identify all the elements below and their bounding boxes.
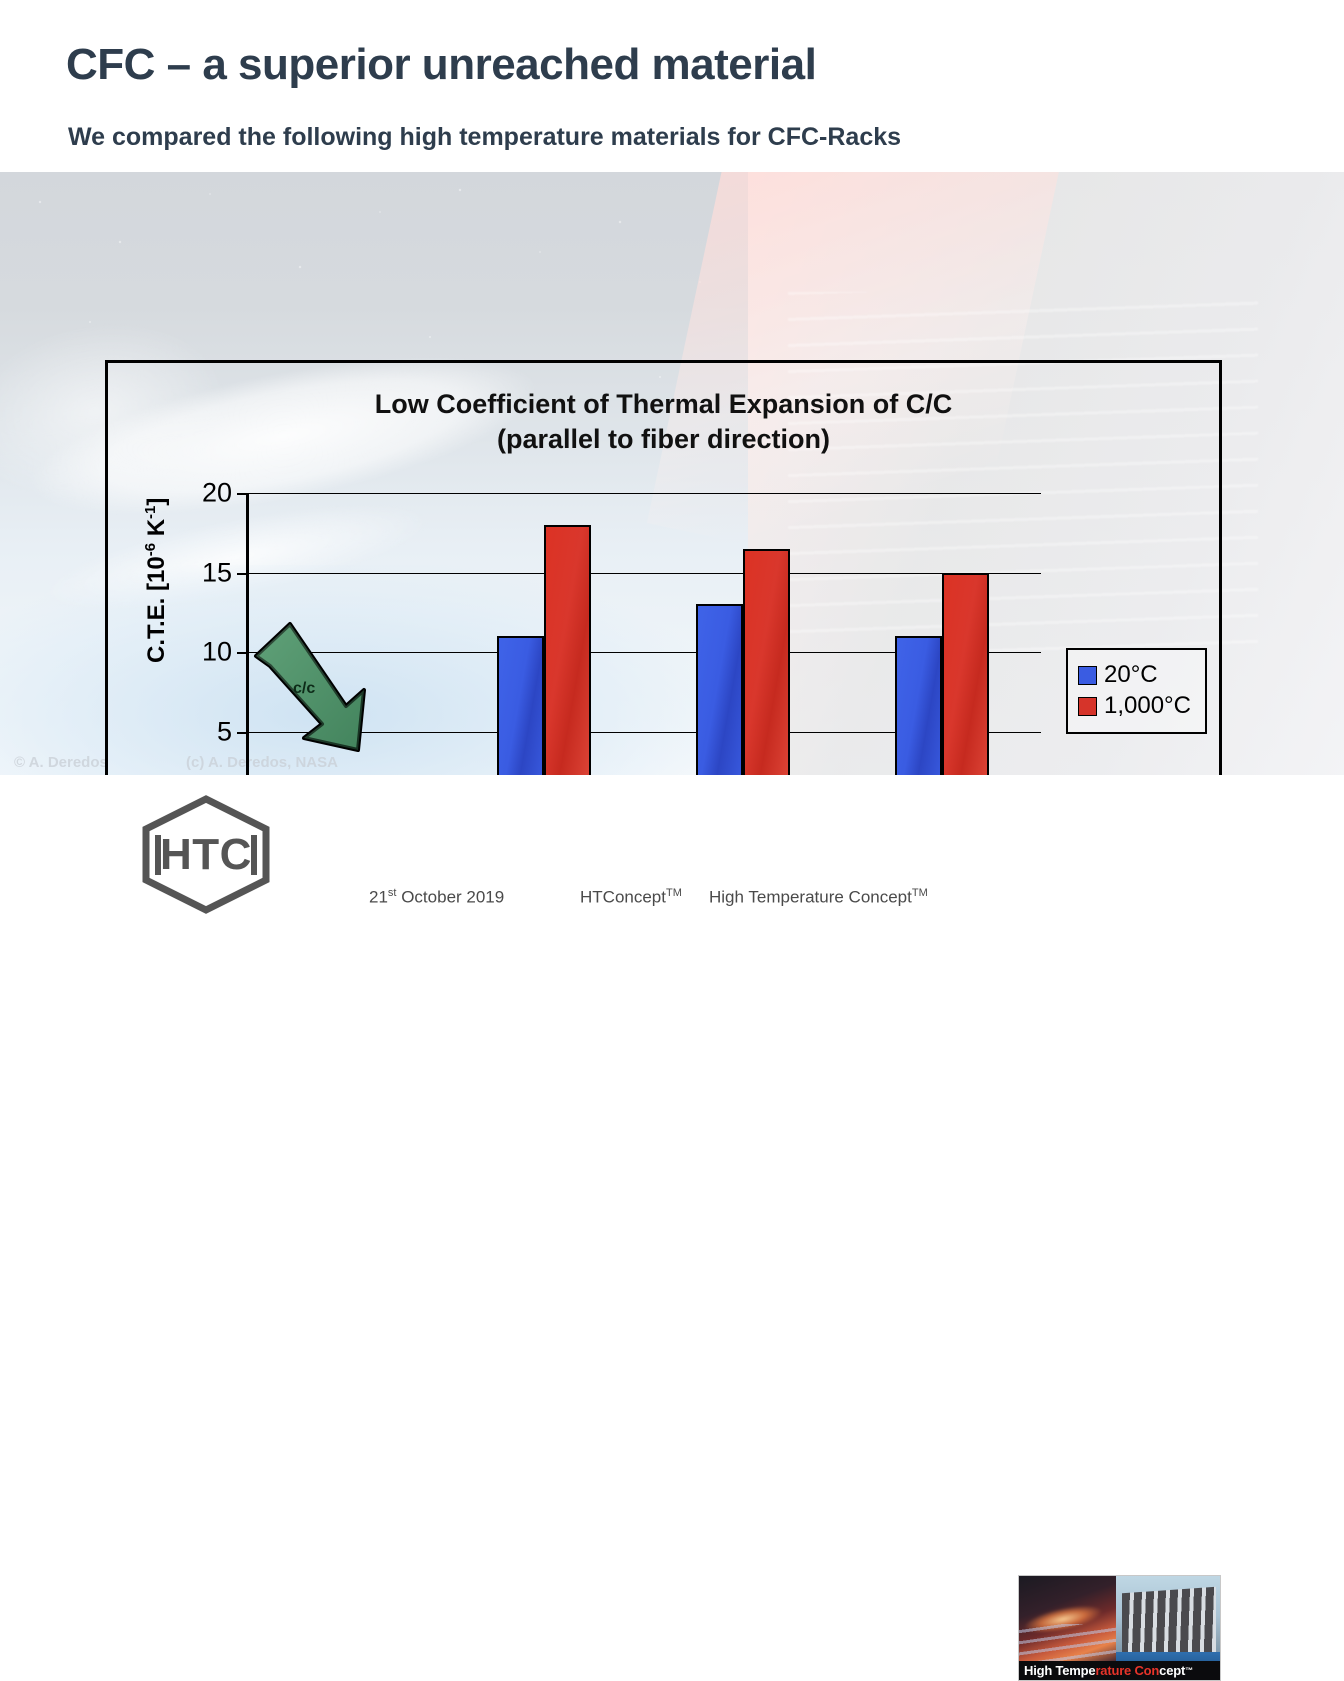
y-tick-label-20: 20 [202,478,232,509]
htc-logo-text: HTC [138,795,274,914]
y-tick-mark-5 [237,732,246,734]
y-axis-title-exp1: -6 [142,543,159,556]
badge-caption-highlight: rature Con [1095,1663,1159,1678]
slide-footer: HTC 21st October 2019 HTConceptTM High T… [0,775,1344,934]
legend-item-20c: 20°C [1078,661,1191,689]
badge-rack-fins-decoration [1122,1587,1216,1660]
badge-caption-post: cept [1159,1663,1185,1678]
y-tick-mark-10 [237,652,246,654]
legend-swatch-20c [1078,666,1097,685]
cc-trend-arrow-icon: c/c [248,618,378,758]
y-axis-title-exp2: -1 [142,506,159,519]
footer-brand-long: High Temperature ConceptTM [709,887,928,908]
y-axis-title-mid: K [143,519,170,543]
badge-caption-pre: High Tempe [1024,1663,1095,1678]
gridline-15 [246,573,1041,574]
chart-title-line-1: Low Coefficient of Thermal Expansion of … [108,387,1219,422]
y-tick-label-10: 10 [202,637,232,668]
cc-arrow-label: c/c [293,680,315,698]
bar-20c-2 [696,604,743,775]
htc-product-badge: High Temperature Concept™ [1018,1575,1221,1681]
bar-1000c-2 [743,549,790,775]
chart-title-line-2: (parallel to fiber direction) [108,422,1219,457]
bar-1000c-1 [544,525,591,775]
y-tick-mark-15 [237,573,246,575]
background-photo-band: © A. Deredos (c) A. Deredos, NASA Low Co… [0,172,1344,775]
y-tick-mark-20 [237,493,246,495]
footer-date: 21st October 2019 [369,887,504,908]
y-axis-title-prefix: C.T.E. [10 [143,556,170,663]
htc-logo: HTC [138,795,274,914]
y-tick-label-15: 15 [202,557,232,588]
y-axis-title: C.T.E. [10-6 K-1] [142,498,171,663]
footer-date-day: 21 [369,888,388,907]
bar-20c-1 [497,636,544,775]
page-subtitle: We compared the following high temperatu… [68,123,901,152]
badge-caption-tm: ™ [1185,1666,1193,1675]
chart-legend: 20°C 1,000°C [1066,648,1207,734]
footer-brand-long-tm: TM [912,887,928,899]
chart-container: Low Coefficient of Thermal Expansion of … [105,360,1222,775]
footer-date-rest: October 2019 [396,888,504,907]
y-tick-label-5: 5 [217,716,232,747]
bar-1000c-3 [942,573,989,775]
footer-brand-long-text: High Temperature Concept [709,888,912,907]
y-axis-title-suffix: ] [143,498,170,506]
bar-20c-3 [895,636,942,775]
legend-label-1000c: 1,000°C [1104,692,1191,720]
footer-brand-short-text: HTConcept [580,888,666,907]
gridline-20 [246,493,1041,494]
badge-caption: High Temperature Concept™ [1019,1661,1220,1680]
chart-title: Low Coefficient of Thermal Expansion of … [108,387,1219,456]
legend-item-1000c: 1,000°C [1078,692,1191,720]
footer-brand-short-tm: TM [666,887,682,899]
page-title: CFC – a superior unreached material [66,40,816,90]
badge-strips-decoration [1019,1624,1116,1664]
slide-header: CFC – a superior unreached material We c… [0,0,1344,172]
legend-label-20c: 20°C [1104,661,1158,689]
footer-brand-short: HTConceptTM [580,887,682,908]
legend-swatch-1000c [1078,697,1097,716]
